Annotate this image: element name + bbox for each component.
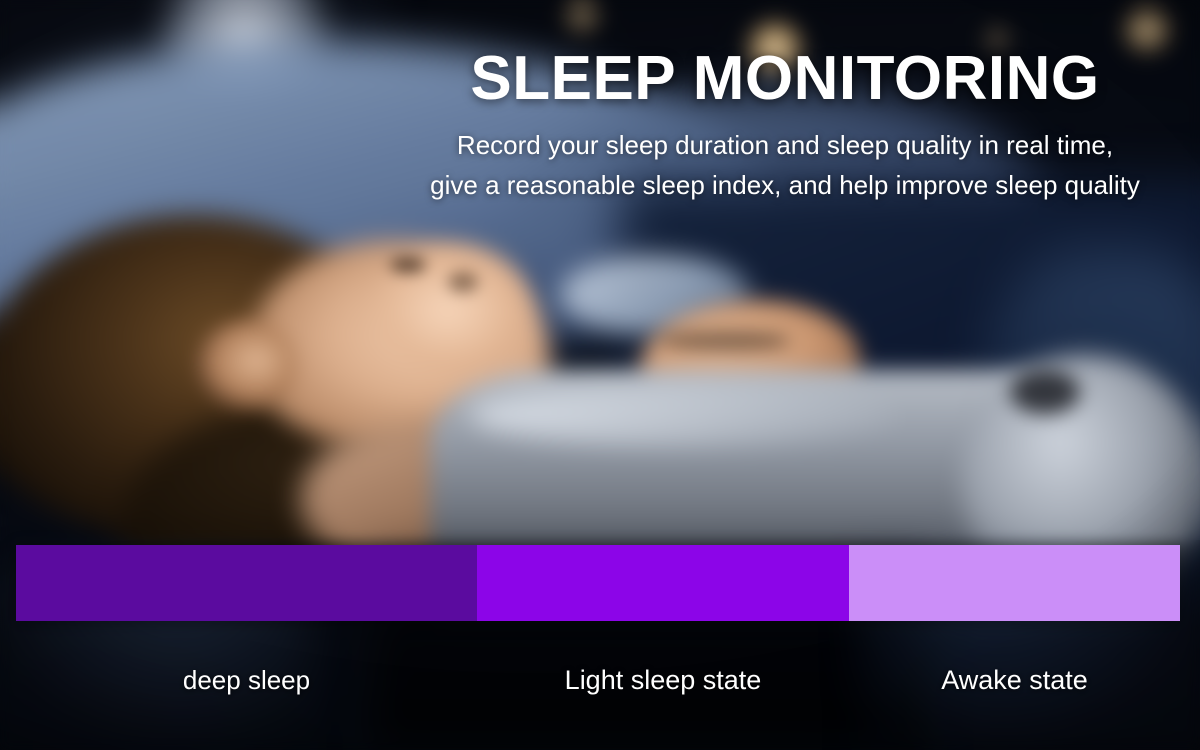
photo-sleeve-highlight (470, 385, 900, 445)
banner-copy: SLEEP MONITORING Record your sleep durat… (390, 46, 1180, 205)
bar-segment-light-sleep[interactable] (477, 545, 849, 621)
photo-ear (196, 320, 296, 410)
banner-subtitle: Record your sleep duration and sleep qua… (390, 125, 1180, 205)
sleep-monitoring-banner: SLEEP MONITORING Record your sleep durat… (0, 0, 1200, 750)
photo-eyebrow (390, 258, 426, 272)
subtitle-line-2: give a reasonable sleep index, and help … (390, 165, 1180, 205)
sleep-stage-bar (16, 545, 1180, 621)
photo-hand-shadow (660, 330, 790, 352)
photo-shoulder-shadow (1010, 370, 1080, 414)
sleep-stage-legend: deep sleep Light sleep state Awake state (16, 660, 1180, 704)
page-title: SLEEP MONITORING (390, 46, 1180, 111)
photo-nose-shadow (448, 272, 478, 292)
subtitle-line-1: Record your sleep duration and sleep qua… (390, 125, 1180, 165)
legend-label-light-sleep: Light sleep state (477, 660, 849, 700)
legend-label-awake: Awake state (849, 660, 1180, 700)
legend-label-deep-sleep: deep sleep (16, 660, 477, 700)
bar-segment-deep-sleep[interactable] (16, 545, 477, 621)
bar-segment-awake[interactable] (849, 545, 1180, 621)
